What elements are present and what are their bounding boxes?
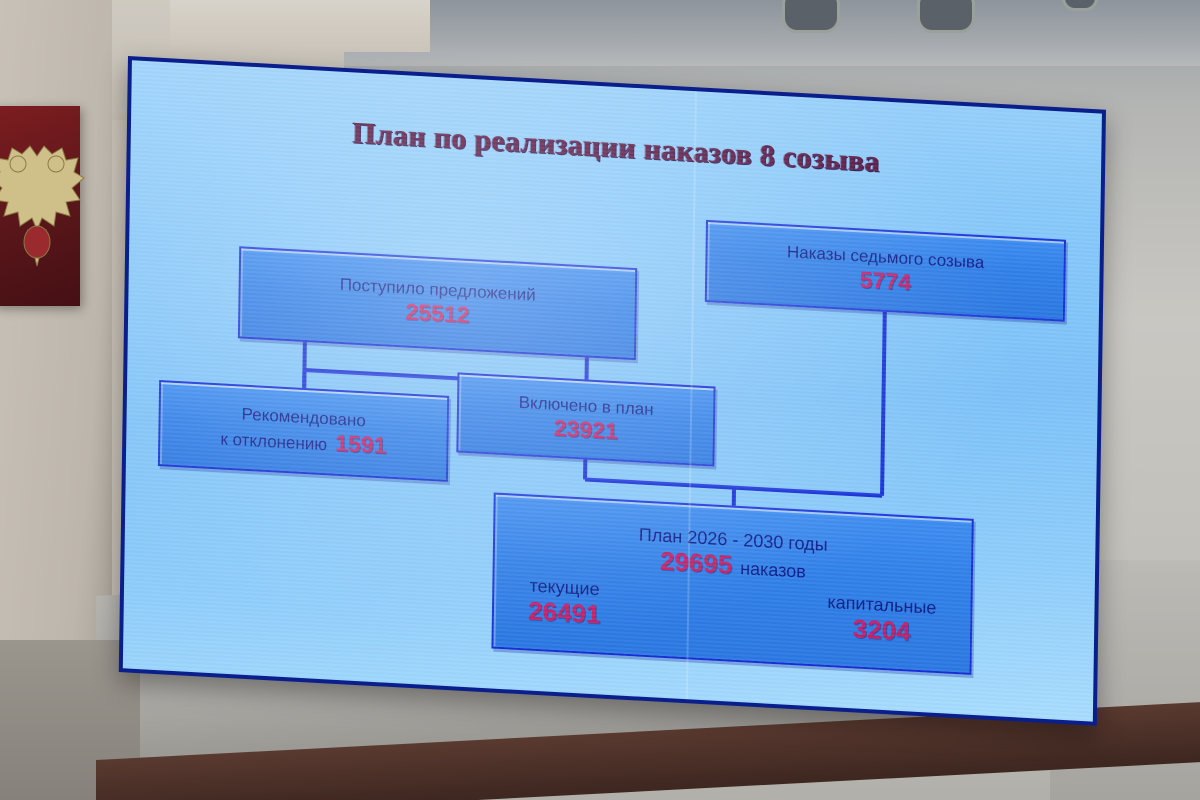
soffit-upper-step [170, 0, 430, 52]
page-title: План по реализации наказов 8 созыва [131, 104, 1102, 191]
ceiling-light-icon [1065, 0, 1095, 8]
slide-canvas: План по реализации наказов 8 созыва [123, 60, 1102, 721]
node-value-suffix: наказов [740, 558, 806, 582]
node-box-included[interactable]: Включено в план 23921 [456, 372, 715, 466]
plan-current: текущие 26491 [528, 575, 601, 630]
node-value: 29695 [660, 547, 733, 581]
node-box-plan[interactable]: План 2026 - 2030 годы 29695 наказов теку… [491, 492, 973, 674]
plan-capital-value: 3204 [852, 614, 910, 647]
node-box-received[interactable]: Поступило предложений 25512 [238, 246, 637, 360]
ceiling [330, 0, 1200, 66]
coat-of-arms-plaque [0, 106, 80, 306]
node-box-seventh-convocation[interactable]: Наказы седьмого созыва 5774 [705, 220, 1066, 322]
russian-eagle-icon [0, 138, 92, 278]
ceiling-light-icon [920, 0, 972, 30]
plan-capital: капитальные 3204 [827, 592, 937, 649]
presentation-screen[interactable]: План по реализации наказов 8 созыва [119, 56, 1106, 726]
node-label-line2: к отклонению [220, 429, 327, 454]
node-box-rejected[interactable]: Рекомендовано к отклонению 1591 [158, 380, 449, 482]
screenshot-root: План по реализации наказов 8 созыва [0, 0, 1200, 800]
plan-current-value: 26491 [528, 596, 601, 630]
screen-bezel: План по реализации наказов 8 созыва [119, 56, 1106, 726]
ceiling-light-icon [785, 0, 837, 30]
node-value: 1591 [335, 429, 387, 458]
